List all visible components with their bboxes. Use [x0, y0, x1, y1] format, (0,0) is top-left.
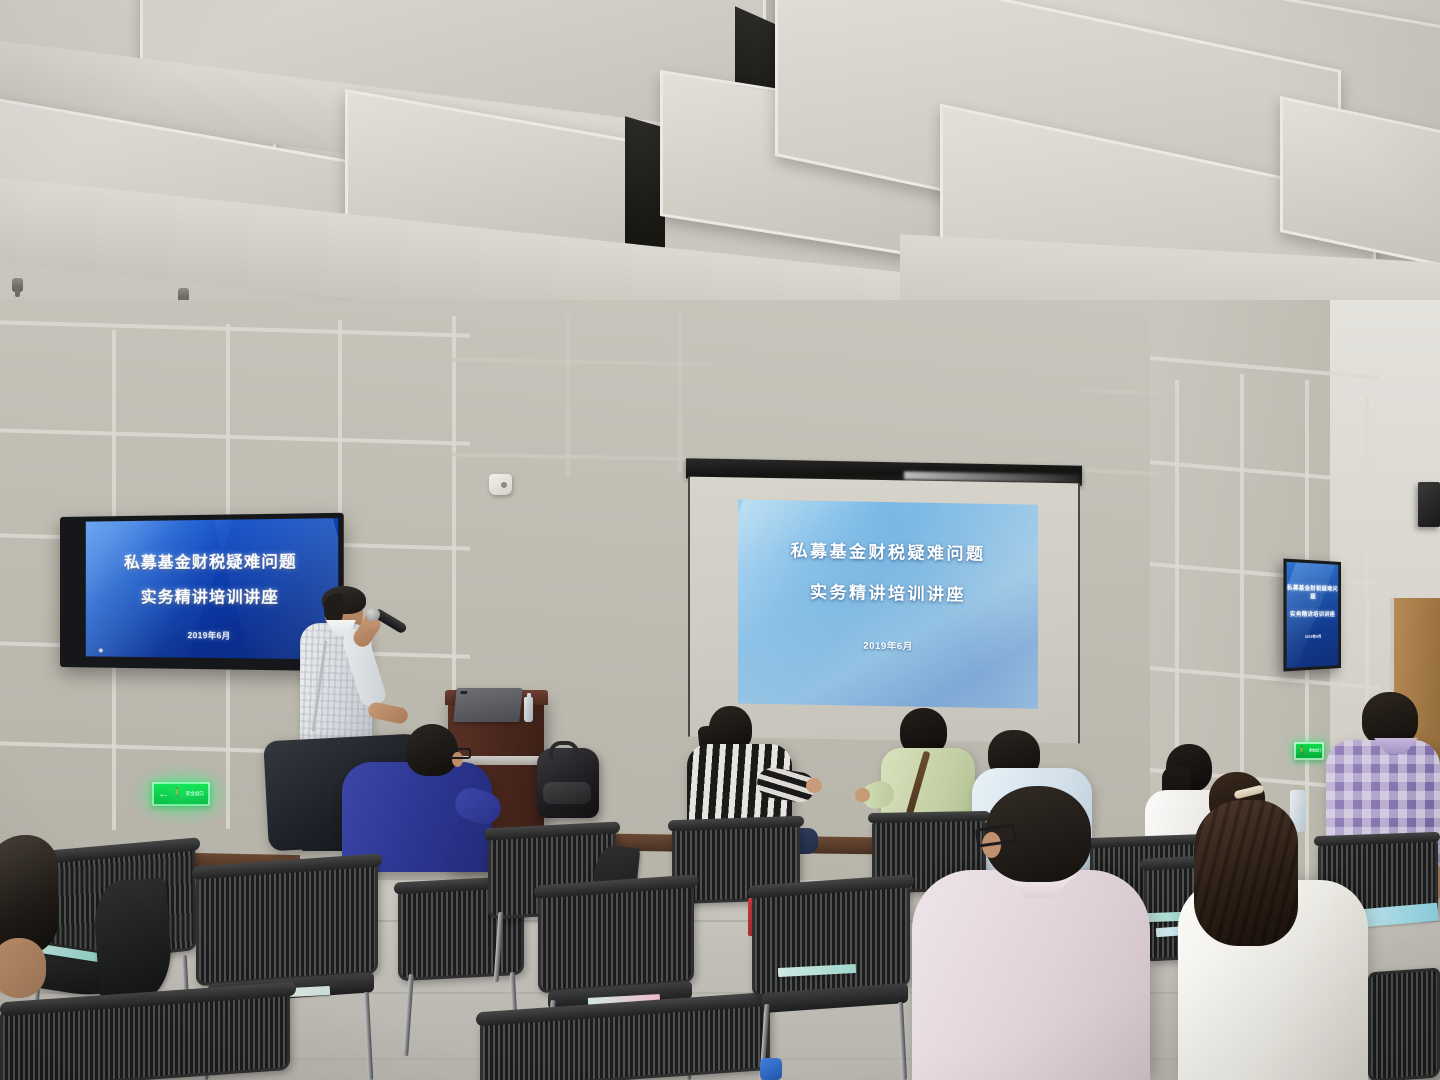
slide-title-line2: 实务精讲培训讲座 [1287, 610, 1339, 619]
chair-headrail [868, 811, 990, 823]
chair-back [538, 883, 694, 994]
wall-panel-line [678, 312, 682, 472]
projection-screen-assembly: 私募基金财税疑难问题 实务精讲培训讲座 2019年6月 [688, 462, 1080, 740]
chair-tablet-arm[interactable] [92, 878, 174, 1003]
slide-title-line1: 私募基金财税疑难问题 [738, 535, 1038, 565]
wall-speaker-black-icon [1418, 482, 1440, 527]
exit-sign-label: 安全出口 [186, 792, 204, 797]
torso [912, 870, 1150, 1080]
slide-date: 2019年6月 [1287, 634, 1339, 640]
exit-sign-label: 安全出口 [1309, 749, 1321, 752]
right-exit-sign: 🚶 安全出口 [1294, 742, 1324, 760]
running-man-icon: 🚶 [1297, 747, 1307, 755]
water-bottle-on-podium[interactable] [524, 697, 533, 722]
presenter-hair-side [324, 594, 343, 624]
head [1362, 692, 1418, 746]
wall-speaker-white-icon [489, 474, 512, 495]
projection-screen: 私募基金财税疑难问题 实务精讲培训讲座 2019年6月 [688, 477, 1080, 744]
projected-slide: 私募基金财税疑难问题 实务精讲培训讲座 2019年6月 [738, 499, 1038, 708]
glasses-icon [447, 748, 471, 759]
laptop-on-podium[interactable] [453, 688, 523, 722]
left-exit-sign: ← 🚶 安全出口 [152, 782, 210, 806]
hair [1194, 800, 1298, 946]
black-backpack[interactable] [537, 748, 599, 818]
slide-title-line2: 实务精讲培训讲座 [738, 576, 1038, 606]
slide-title-line1: 私募基金财税疑难问题 [1287, 583, 1339, 601]
blue-bottle-foreground[interactable] [760, 1058, 782, 1080]
running-man-icon: 🚶 [171, 789, 183, 799]
slide-title-line2: 实务精讲培训讲座 [86, 585, 338, 608]
slide-title-line1: 私募基金财税疑难问题 [86, 549, 338, 573]
slide-date: 2019年6月 [738, 635, 1038, 654]
chair-back [1368, 967, 1440, 1080]
ceiling-gap [625, 116, 665, 257]
chair-back [752, 882, 910, 997]
exit-sign-face: ← 🚶 安全出口 [154, 784, 208, 804]
slide-text: 私募基金财税疑难问题 实务精讲培训讲座 2019年6月 [738, 535, 1038, 654]
hand [855, 788, 870, 802]
exit-sign-face: 🚶 安全出口 [1296, 744, 1322, 758]
right-wall-monitor[interactable]: 私募基金财税疑难问题 实务精讲培训讲座 2019年6月 [1283, 558, 1341, 671]
chair-back [196, 862, 378, 987]
hair [0, 835, 58, 955]
hand [806, 778, 822, 793]
tv-power-led [99, 648, 103, 652]
seminar-room-photo: 私募基金财税疑难问题 实务精讲培训讲座 2019年6月 私募基金财税疑难问题 实… [0, 0, 1440, 1080]
ceiling-spotlight [12, 278, 23, 292]
left-arrow-icon: ← [158, 789, 169, 800]
ceiling [0, 0, 1440, 340]
microphone-head-icon [366, 608, 380, 621]
tv-slide-text: 私募基金财税疑难问题 实务精讲培训讲座 2019年6月 [86, 549, 338, 643]
monitor-screen: 私募基金财税疑难问题 实务精讲培训讲座 2019年6月 [1287, 562, 1339, 668]
wall-panel-line [566, 315, 570, 475]
arm [0, 938, 46, 998]
